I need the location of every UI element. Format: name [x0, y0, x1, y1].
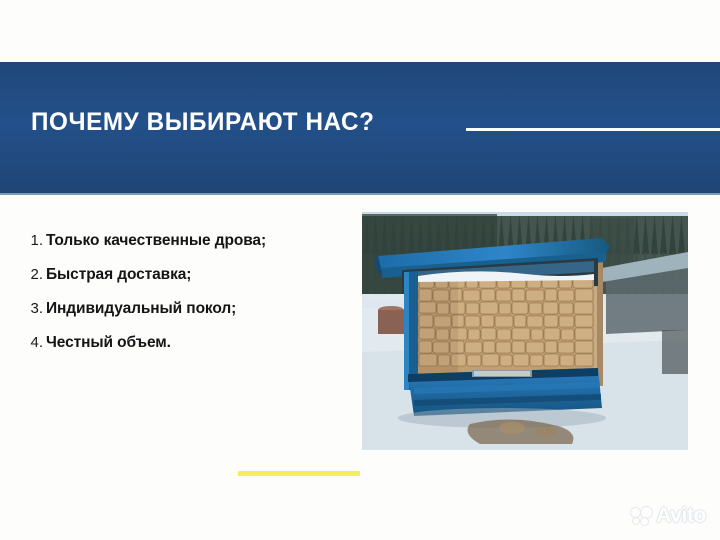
list-item-label: Быстрая доставка;	[46, 266, 191, 284]
list-item-number: 1.	[22, 232, 46, 249]
list-item: 2. Быстрая доставка;	[22, 266, 352, 300]
list-item-label: Честный объем.	[46, 334, 171, 352]
photo-illustration	[362, 212, 688, 450]
list-item-number: 2.	[22, 266, 46, 283]
accent-underline	[238, 471, 360, 476]
avito-logo-icon	[631, 506, 653, 526]
list-item-label: Только качественные дрова;	[46, 232, 266, 250]
firewood-stack	[418, 276, 594, 374]
firewood-truck-photo	[362, 212, 688, 450]
benefits-list: 1. Только качественные дрова; 2. Быстрая…	[22, 232, 352, 368]
list-item-number: 4.	[22, 334, 46, 351]
list-item: 1. Только качественные дрова;	[22, 232, 352, 266]
list-item: 3. Индивидуальный покол;	[22, 300, 352, 334]
slide-canvas: ПОЧЕМУ ВЫБИРАЮТ НАС? 1. Только качествен…	[0, 0, 720, 540]
header-divider-line	[466, 128, 720, 131]
avito-watermark-label: Avito	[656, 504, 706, 528]
list-item-number: 3.	[22, 300, 46, 317]
avito-watermark: Avito	[631, 504, 706, 528]
page-title: ПОЧЕМУ ВЫБИРАЮТ НАС?	[31, 107, 375, 137]
list-item-label: Индивидуальный покол;	[46, 300, 236, 318]
list-item: 4. Честный объем.	[22, 334, 352, 368]
